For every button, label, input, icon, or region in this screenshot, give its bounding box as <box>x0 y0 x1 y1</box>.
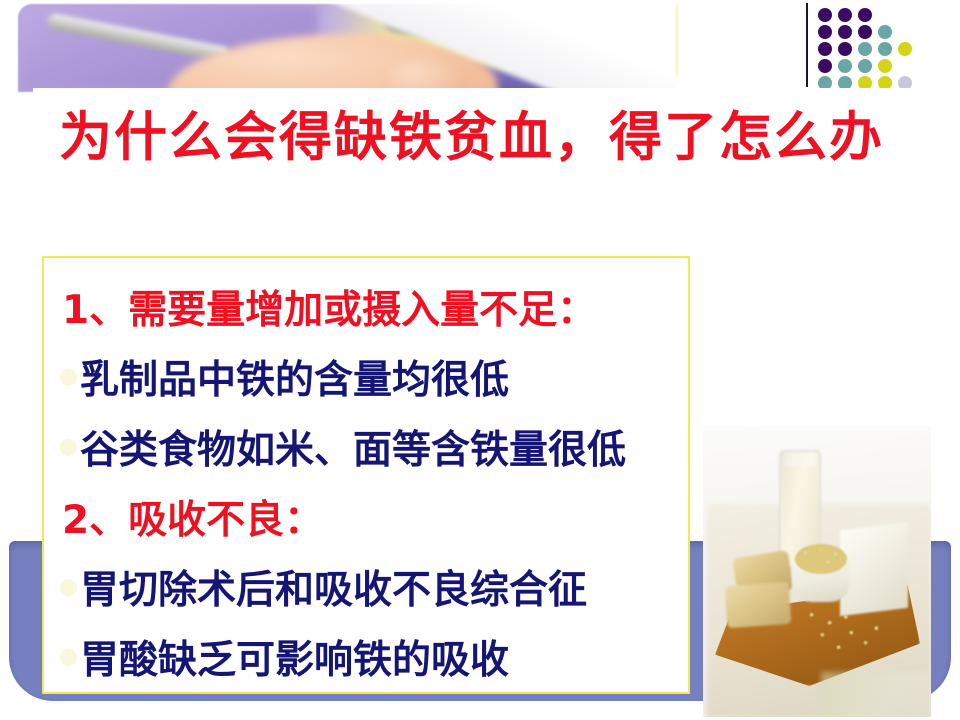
page-title: 为什么会得缺铁贫血，得了怎么办 <box>59 95 884 171</box>
slide: 为什么会得缺铁贫血，得了怎么办 1、需要量增加或摄入量不足： 乳制品中铁的含量均… <box>0 0 960 720</box>
bullet-label: 乳制品中铁的含量均很低 <box>80 349 509 405</box>
logo-dot-yellow <box>878 59 892 73</box>
header-banner <box>0 0 960 96</box>
bullet-icon <box>60 369 77 386</box>
photo-scattered-beans <box>799 608 889 664</box>
logo-dot-teal <box>838 59 852 73</box>
photo-soybeans <box>795 544 847 574</box>
bullet-label: 胃酸缺乏可影响铁的吸收 <box>80 629 509 685</box>
logo-dot-purple <box>858 25 872 39</box>
logo-dot-yellow <box>898 42 912 56</box>
photo-bean-curd-2 <box>725 582 792 628</box>
logo-dot-purple <box>838 25 852 39</box>
logo-dot-teal <box>878 42 892 56</box>
logo-dot-purple <box>838 42 852 56</box>
content-box: 1、需要量增加或摄入量不足： 乳制品中铁的含量均很低 谷类食物如米、面等含铁量很… <box>42 256 690 694</box>
header-divider <box>806 3 808 87</box>
logo-dot-teal <box>858 42 872 56</box>
section-heading-2: 2、吸收不良： <box>62 489 323 545</box>
bullet-icon <box>60 439 77 456</box>
dot-grid-logo <box>818 8 938 90</box>
header-photo <box>18 4 678 92</box>
logo-dot-purple <box>818 8 832 22</box>
bullet-label: 胃切除术后和吸收不良综合征 <box>80 559 587 615</box>
list-item: 谷类食物如米、面等含铁量很低 <box>52 412 682 482</box>
bullet-icon <box>60 579 77 596</box>
bullet-icon <box>60 649 77 666</box>
content-list: 1、需要量增加或摄入量不足： 乳制品中铁的含量均很低 谷类食物如米、面等含铁量很… <box>44 258 688 692</box>
list-item: 胃切除术后和吸收不良综合征 <box>52 552 682 622</box>
section-heading-1: 1、需要量增加或摄入量不足： <box>62 279 596 335</box>
logo-dot-purple <box>818 42 832 56</box>
bullet-label: 谷类食物如米、面等含铁量很低 <box>80 419 626 475</box>
logo-dot-purple <box>818 25 832 39</box>
header-photo-white-wedge <box>258 4 678 92</box>
photo-tofu-block <box>840 522 908 616</box>
list-item: 乳制品中铁的含量均很低 <box>52 342 682 412</box>
soy-foods-photo <box>703 426 931 717</box>
logo-dot-teal <box>878 25 892 39</box>
photo-bottom-tint <box>821 672 931 717</box>
logo-dot-purple <box>858 8 872 22</box>
logo-dot-purple <box>838 8 852 22</box>
logo-dot-teal <box>858 59 872 73</box>
list-item: 1、需要量增加或摄入量不足： <box>52 272 682 342</box>
list-item: 2、吸收不良： <box>52 482 682 552</box>
title-plate: 为什么会得缺铁贫血，得了怎么办 <box>33 88 940 177</box>
list-item: 胃酸缺乏可影响铁的吸收 <box>52 622 682 692</box>
logo-dot-purple <box>818 59 832 73</box>
